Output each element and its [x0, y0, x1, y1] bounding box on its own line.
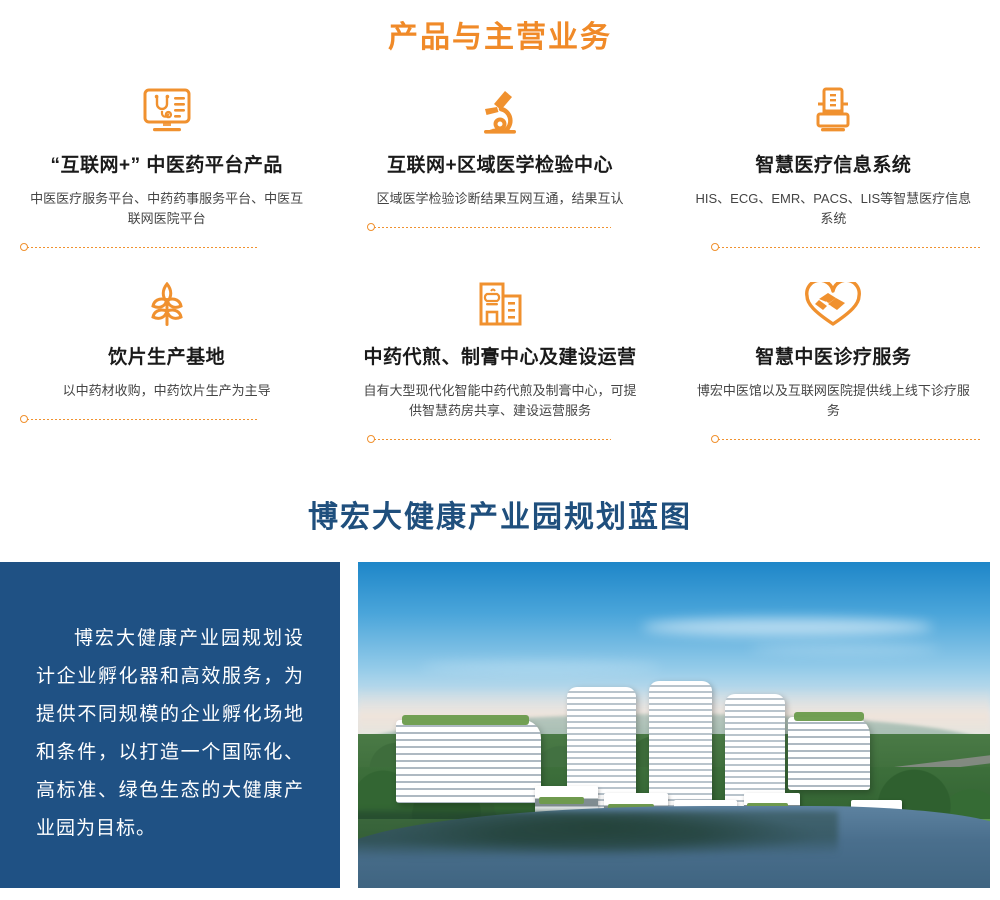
product-card-regional-lab-center[interactable]: 互联网+区域医学检验中心 区域医学检验诊断结果互网互通，结果互认	[333, 80, 666, 248]
product-card-desc: 以中药材收购，中药饮片生产为主导	[18, 381, 315, 401]
render-cloud	[642, 618, 933, 636]
product-card-desc: 自有大型现代化智能中药代煎及制膏中心，可提供智慧药房共享、建设运营服务	[351, 381, 648, 421]
divider-dot-icon	[20, 243, 28, 251]
product-card-smart-medical-info-system[interactable]: 智慧医疗信息系统 HIS、ECG、EMR、PACS、LIS等智慧医疗信息系统	[667, 80, 1000, 248]
render-building-tower	[649, 681, 712, 810]
card-divider	[713, 247, 980, 248]
product-card-row-1: “互联网+” 中医药平台产品 中医医疗服务平台、中药药事服务平台、中医互联网医院…	[0, 80, 1000, 248]
blueprint-render-image	[358, 562, 990, 892]
render-green-roof	[794, 712, 864, 721]
product-card-decoction-piece-base[interactable]: 饮片生产基地 以中药材收购，中药饮片生产为主导	[0, 276, 333, 440]
product-card-title: 中药代煎、制膏中心及建设运营	[351, 346, 648, 371]
render-lake	[358, 806, 990, 892]
server-building-icon	[685, 80, 982, 142]
page-title-products: 产品与主营业务	[0, 0, 1000, 56]
product-card-herb-decoction-center[interactable]: 中药代煎、制膏中心及建设运营 自有大型现代化智能中药代煎及制膏中心，可提供智慧药…	[333, 276, 666, 440]
render-building-slab	[396, 720, 541, 803]
blueprint-description-panel: 博宏大健康产业园规划设计企业孵化器和高效服务，为提供不同规模的企业孵化场地和条件…	[0, 562, 340, 900]
card-divider	[22, 419, 257, 420]
divider-dot-icon	[711, 435, 719, 443]
product-card-desc: 中医医疗服务平台、中药药事服务平台、中医互联网医院平台	[18, 189, 315, 229]
product-card-desc: HIS、ECG、EMR、PACS、LIS等智慧医疗信息系统	[685, 189, 982, 229]
product-card-title: 饮片生产基地	[18, 346, 315, 371]
card-divider	[713, 439, 980, 440]
divider-dot-icon	[367, 223, 375, 231]
product-card-internet-tcm-platform[interactable]: “互联网+” 中医药平台产品 中医医疗服务平台、中药药事服务平台、中医互联网医院…	[0, 80, 333, 248]
page-root: 产品与主营业务 “互联网+” 中医药平台	[0, 0, 1000, 900]
medical-record-monitor-icon	[18, 80, 315, 142]
product-card-title: 智慧中医诊疗服务	[685, 346, 982, 371]
product-card-desc: 博宏中医馆以及互联网医院提供线上线下诊疗服务	[685, 381, 982, 421]
heart-handshake-icon	[685, 276, 982, 334]
product-card-smart-tcm-clinic-service[interactable]: 智慧中医诊疗服务 博宏中医馆以及互联网医院提供线上线下诊疗服务	[667, 276, 1000, 440]
product-card-title: 互联网+区域医学检验中心	[351, 154, 648, 179]
card-divider	[22, 247, 257, 248]
wheat-herb-icon	[18, 276, 315, 334]
card-divider	[369, 439, 610, 440]
render-cloud	[421, 661, 661, 673]
product-card-title: “互联网+” 中医药平台产品	[18, 154, 315, 179]
divider-dot-icon	[367, 435, 375, 443]
product-card-title: 智慧医疗信息系统	[685, 154, 982, 179]
page-bottom-spacer	[0, 888, 1000, 900]
microscope-icon	[351, 80, 648, 142]
render-green-roof	[402, 715, 528, 725]
page-title-blueprint: 博宏大健康产业园规划蓝图	[0, 492, 1000, 536]
blueprint-row: 博宏大健康产业园规划设计企业孵化器和高效服务，为提供不同规模的企业孵化场地和条件…	[0, 562, 1000, 900]
blueprint-description-text: 博宏大健康产业园规划设计企业孵化器和高效服务，为提供不同规模的企业孵化场地和条件…	[36, 620, 304, 848]
render-building-slab	[788, 717, 870, 790]
product-card-row-2: 饮片生产基地 以中药材收购，中药饮片生产为主导	[0, 276, 1000, 440]
factory-teapot-icon	[351, 276, 648, 334]
product-card-desc: 区域医学检验诊断结果互网互通，结果互认	[351, 189, 648, 209]
divider-dot-icon	[711, 243, 719, 251]
divider-dot-icon	[20, 415, 28, 423]
card-divider	[369, 227, 610, 228]
